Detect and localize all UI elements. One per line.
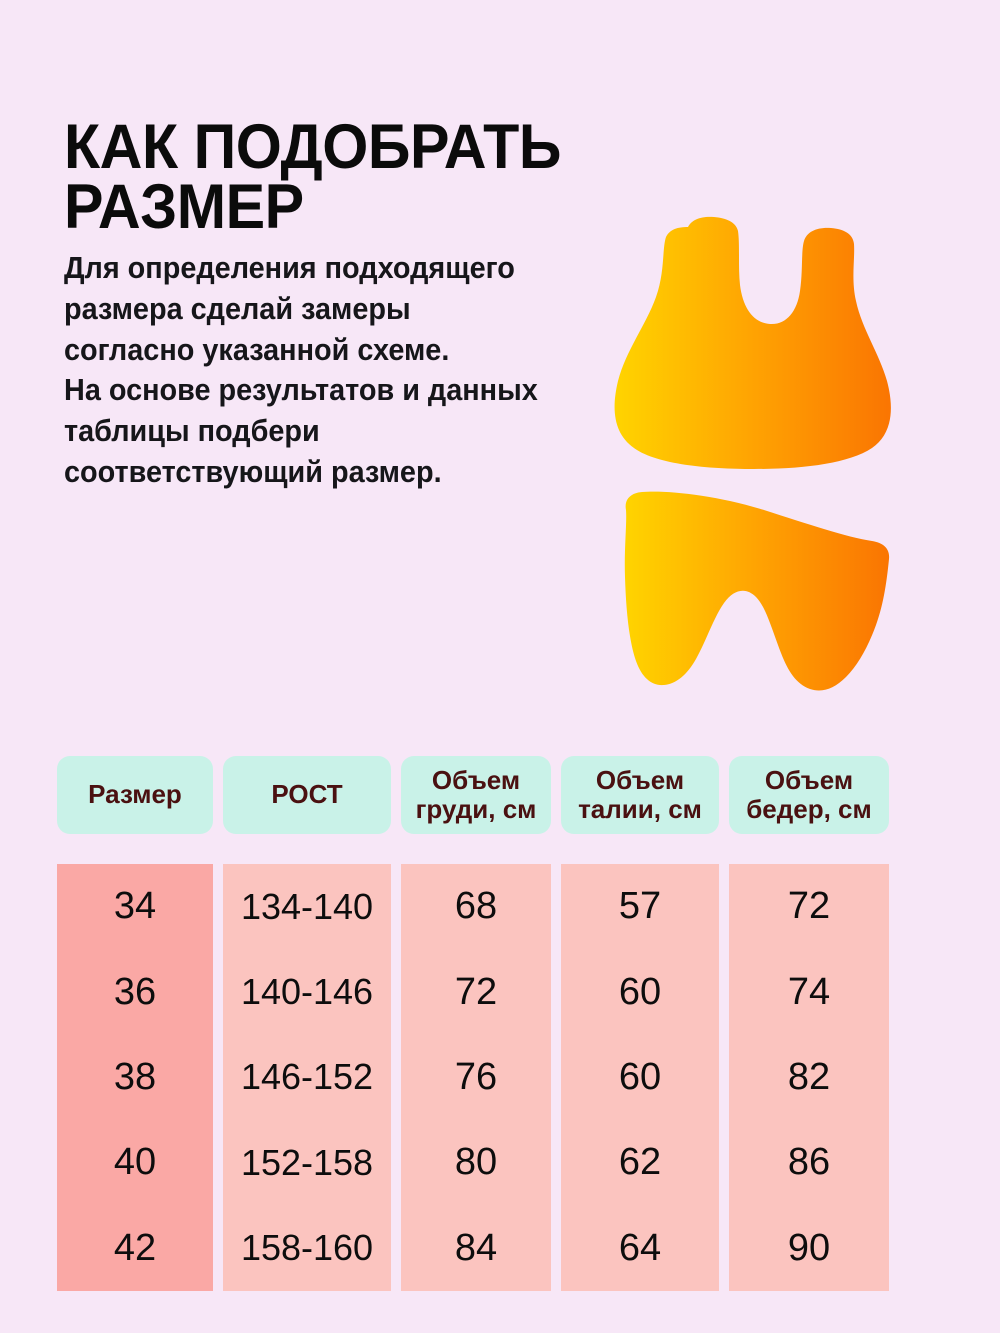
size-table: Размер 34 36 38 40 42 РОСТ 134-140 140-1… xyxy=(57,756,943,1291)
table-cell: 84 xyxy=(401,1206,551,1291)
garment-illustration xyxy=(596,205,926,705)
table-column-bust: Объем груди, см 68 72 76 80 84 xyxy=(401,756,551,1291)
column-header: Объем бедер, см xyxy=(729,756,889,834)
table-cell: 158-160 xyxy=(223,1206,391,1291)
table-cell: 60 xyxy=(561,949,719,1034)
table-cell: 80 xyxy=(401,1120,551,1205)
column-body: 57 60 60 62 64 xyxy=(561,864,719,1291)
intro-block: КАК ПОДОБРАТЬ РАЗМЕР Для определения под… xyxy=(64,118,624,493)
page-title: КАК ПОДОБРАТЬ РАЗМЕР xyxy=(64,118,590,238)
table-cell: 57 xyxy=(561,864,719,949)
column-body: 34 36 38 40 42 xyxy=(57,864,213,1291)
table-cell: 82 xyxy=(729,1035,889,1120)
column-body: 134-140 140-146 146-152 152-158 158-160 xyxy=(223,864,391,1291)
table-cell: 62 xyxy=(561,1120,719,1205)
briefs-icon xyxy=(625,492,889,691)
sports-bra-icon xyxy=(615,217,891,469)
table-column-height: РОСТ 134-140 140-146 146-152 152-158 158… xyxy=(223,756,391,1291)
table-cell: 152-158 xyxy=(223,1120,391,1205)
table-cell: 60 xyxy=(561,1035,719,1120)
table-cell: 42 xyxy=(57,1206,213,1291)
column-header: Размер xyxy=(57,756,213,834)
column-body: 68 72 76 80 84 xyxy=(401,864,551,1291)
table-cell: 72 xyxy=(401,949,551,1034)
table-cell: 76 xyxy=(401,1035,551,1120)
table-column-hips: Объем бедер, см 72 74 82 86 90 xyxy=(729,756,889,1291)
table-cell: 134-140 xyxy=(223,864,391,949)
table-column-size: Размер 34 36 38 40 42 xyxy=(57,756,213,1291)
column-header: Объем талии, см xyxy=(561,756,719,834)
table-cell: 40 xyxy=(57,1120,213,1205)
table-cell: 64 xyxy=(561,1206,719,1291)
column-body: 72 74 82 86 90 xyxy=(729,864,889,1291)
table-cell: 36 xyxy=(57,949,213,1034)
table-cell: 38 xyxy=(57,1035,213,1120)
table-cell: 34 xyxy=(57,864,213,949)
table-cell: 146-152 xyxy=(223,1035,391,1120)
table-cell: 74 xyxy=(729,949,889,1034)
table-column-waist: Объем талии, см 57 60 60 62 64 xyxy=(561,756,719,1291)
table-cell: 72 xyxy=(729,864,889,949)
column-header: Объем груди, см xyxy=(401,756,551,834)
table-cell: 90 xyxy=(729,1206,889,1291)
table-cell: 68 xyxy=(401,864,551,949)
intro-description: Для определения подходящего размера сдел… xyxy=(64,248,585,493)
size-guide-page: КАК ПОДОБРАТЬ РАЗМЕР Для определения под… xyxy=(0,0,1000,1333)
table-cell: 140-146 xyxy=(223,949,391,1034)
table-cell: 86 xyxy=(729,1120,889,1205)
column-header: РОСТ xyxy=(223,756,391,834)
